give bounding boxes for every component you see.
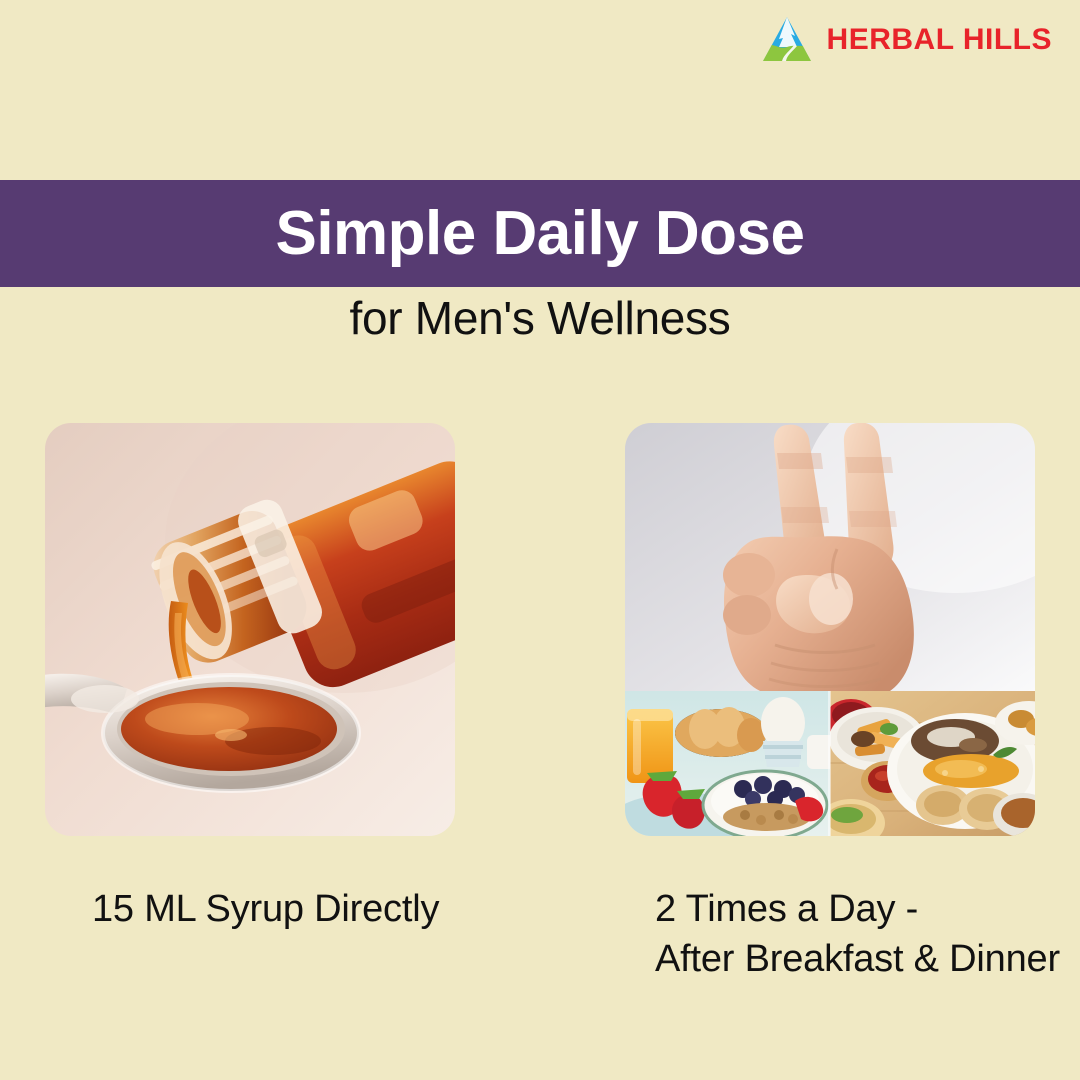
brand-logo: HERBAL HILLS bbox=[761, 14, 1052, 66]
image-card-row bbox=[0, 423, 1080, 843]
caption-line: 2 Times a Day - bbox=[655, 884, 1060, 934]
brand-name: HERBAL HILLS bbox=[827, 25, 1052, 55]
caption-line: After Breakfast & Dinner bbox=[655, 934, 1060, 984]
card-dose-frequency-image bbox=[625, 423, 1035, 836]
card-dose-amount-image bbox=[45, 423, 455, 836]
mountain-hills-triangle-icon bbox=[761, 14, 813, 66]
page-subtitle: for Men's Wellness bbox=[0, 292, 1080, 345]
title-banner: Simple Daily Dose bbox=[0, 180, 1080, 287]
page-title: Simple Daily Dose bbox=[275, 203, 804, 265]
caption-dose-amount: 15 ML Syrup Directly bbox=[92, 884, 439, 934]
caption-line: 15 ML Syrup Directly bbox=[92, 884, 439, 934]
caption-row: 15 ML Syrup Directly 2 Times a Day - Aft… bbox=[0, 884, 1080, 1004]
caption-dose-frequency: 2 Times a Day - After Breakfast & Dinner bbox=[655, 884, 1060, 984]
